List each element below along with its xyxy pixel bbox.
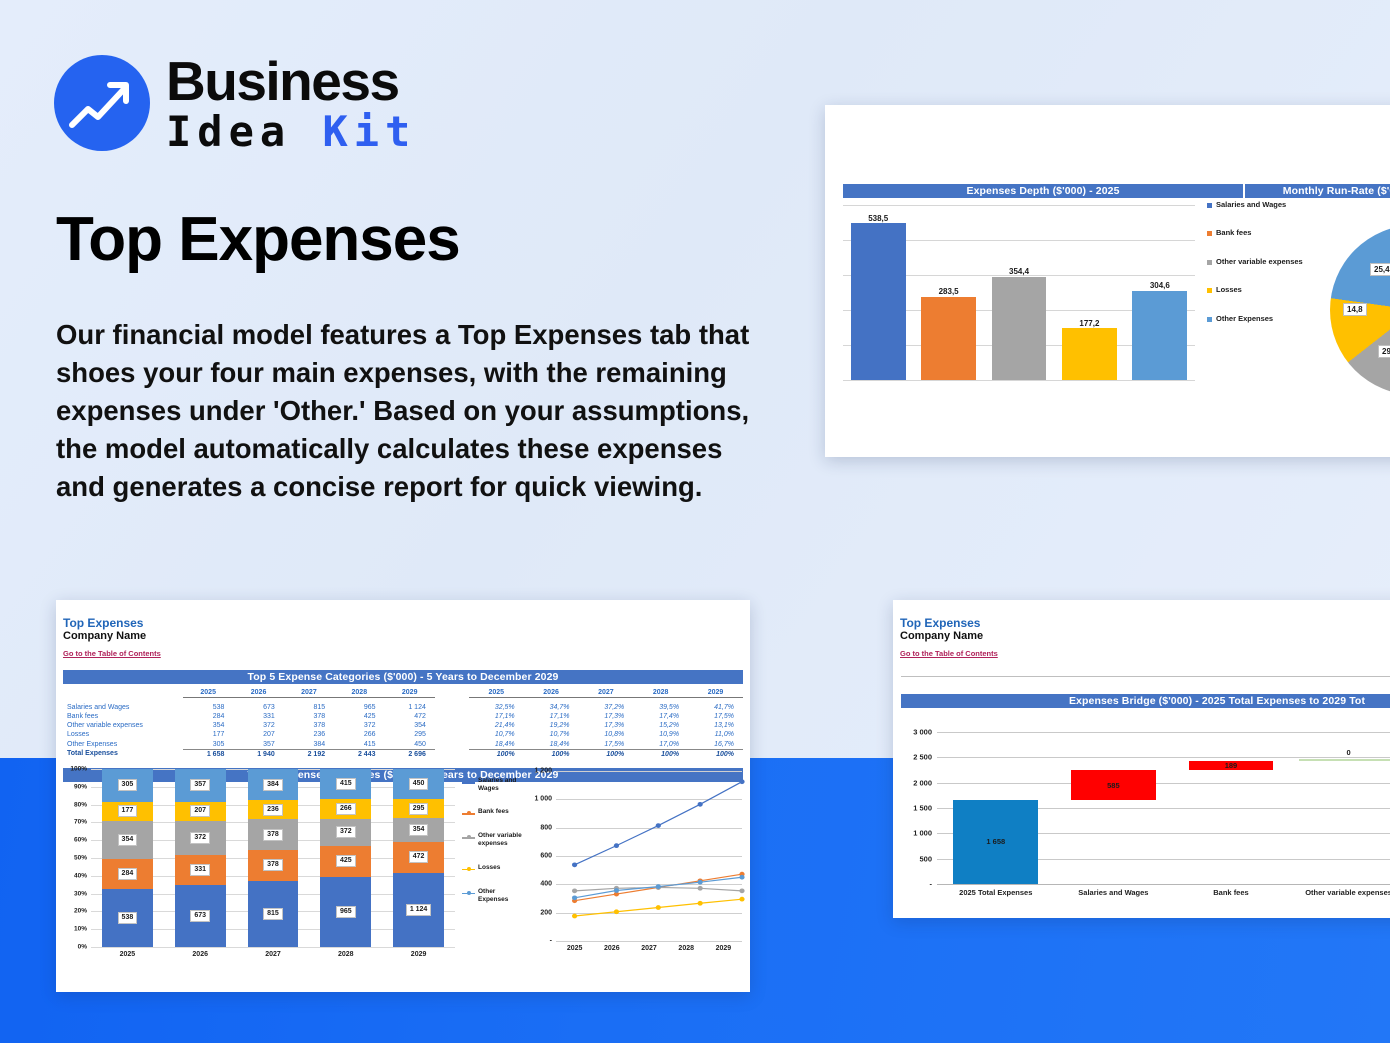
segment-label: 815	[263, 908, 283, 920]
cell: 372	[233, 721, 283, 730]
cell: 17,1%	[524, 712, 579, 721]
x-tick: 2028	[668, 945, 705, 952]
segment-label: 236	[263, 804, 283, 816]
bar-value-label: 283,5	[939, 287, 959, 296]
legend-label: Bank fees	[478, 808, 509, 816]
waterfall-y-axis: 3 000 2 500 2 000 1 500 1 000 500 -	[901, 732, 935, 884]
cell: 13,1%	[688, 721, 743, 730]
x-tick: 2029	[705, 945, 742, 952]
cell: 384	[284, 740, 334, 750]
sheet-company-name: Company Name	[63, 630, 750, 643]
screenshot-panel-top5-categories: Top Expenses Company Name Go to the Tabl…	[56, 600, 750, 992]
bar-series: 538,5 283,5 354,4 177,2 304,6	[843, 205, 1195, 380]
cell: 538	[183, 703, 233, 712]
body-paragraph: Our financial model features a Top Expen…	[56, 316, 756, 506]
cell: 357	[233, 740, 283, 750]
legend-swatch-icon	[1207, 288, 1212, 293]
legend-item: Bank fees	[462, 808, 524, 817]
x-tick: 2026	[593, 945, 630, 952]
waterfall-column: 189	[1172, 732, 1290, 884]
bar-value-label: 189	[1225, 761, 1238, 770]
cell: 11,0%	[688, 730, 743, 739]
bar-value-label: 354,4	[1009, 267, 1029, 276]
waterfall-bar-zero: 0	[1299, 759, 1390, 761]
brand-name-line1: Business	[166, 54, 416, 109]
stack-column: 415 266 372 425 965	[309, 769, 382, 947]
cell: 372	[334, 721, 384, 730]
legend-swatch-icon	[1207, 203, 1212, 208]
legend-item: Salaries and Wages	[1207, 200, 1312, 209]
pie-value-label: 14,8	[1343, 303, 1367, 316]
waterfall-chart: 3 000 2 500 2 000 1 500 1 000 500 - 1 65…	[901, 728, 1390, 908]
bar-item: 354,4	[984, 205, 1054, 380]
pct-col-header-2028: 2028	[633, 688, 688, 698]
bar-chart-expenses-depth: 538,5 283,5 354,4 177,2 304,6	[843, 205, 1195, 380]
legend-item: Bank fees	[1207, 228, 1312, 237]
table-total-row: Total Expenses 1 658 1 940 2 192 2 443 2…	[63, 749, 743, 759]
y-tick: 800	[540, 824, 552, 831]
cell: 236	[284, 730, 334, 739]
brand-name-line2-dark: Idea	[166, 107, 291, 156]
legend-item: Losses	[1207, 285, 1312, 294]
cell: 284	[183, 712, 233, 721]
y-tick: -	[930, 880, 933, 889]
cell: 10,9%	[633, 730, 688, 739]
cell: 17,0%	[633, 740, 688, 750]
legend-label: Salaries and Wages	[1216, 200, 1286, 209]
cell: 100%	[469, 749, 524, 759]
x-tick: 2028	[309, 951, 382, 958]
page-title: Top Expenses	[56, 204, 460, 275]
y-tick: 2 000	[913, 778, 932, 787]
cell: 41,7%	[688, 703, 743, 712]
cell: 378	[284, 721, 334, 730]
waterfall-plot-area: 1 658 585 189	[937, 732, 1390, 884]
cell: 17,5%	[578, 740, 633, 750]
stack-column: 357 207 372 331 673	[164, 769, 237, 947]
segment-label: 378	[263, 829, 283, 841]
stacked-plot-area: 305 177 354 284 538 357 207 372 331 673	[91, 769, 455, 947]
brand-name-line2-accent: Kit	[322, 107, 416, 156]
y-tick: -	[550, 938, 552, 945]
bar-value-label: 0	[1346, 748, 1350, 757]
segment-label: 305	[118, 779, 138, 791]
chart-title-monthly-run-rate: Monthly Run-Rate ($'000	[1245, 184, 1390, 198]
col-header-2029: 2029	[385, 688, 435, 698]
cell: 37,2%	[578, 703, 633, 712]
waterfall-chart-title-bar: Expenses Bridge ($'000) - 2025 Total Exp…	[901, 694, 1390, 708]
y-tick: 20%	[74, 908, 87, 915]
legend-item: Other variable expenses	[462, 832, 524, 848]
line-x-axis: 2025 2026 2027 2028 2029	[556, 945, 742, 952]
bar-value-label: 538,5	[868, 214, 888, 223]
table-row: Bank fees 284 331 378 425 472 17,1% 17,1…	[63, 712, 743, 721]
cell: 100%	[633, 749, 688, 759]
cell: 10,7%	[469, 730, 524, 739]
cell: 2 696	[385, 749, 435, 759]
legend-label: Salaries and Wages	[478, 777, 524, 793]
legend-line-marker-icon	[462, 866, 475, 873]
chart-title-expenses-depth: Expenses Depth ($'000) - 2025	[843, 184, 1243, 198]
y-tick: 3 000	[913, 728, 932, 737]
col-header-2026: 2026	[233, 688, 283, 698]
legend-line-marker-icon	[462, 810, 475, 817]
table-header-row: 2025 2026 2027 2028 2029 2025 2026 2027 …	[63, 688, 743, 698]
toc-link[interactable]: Go to the Table of Contents	[63, 648, 161, 659]
segment-label: 295	[409, 803, 429, 815]
cell: 815	[284, 703, 334, 712]
x-tick: 2025	[556, 945, 593, 952]
legend-line-marker-icon	[462, 779, 475, 786]
segment-label: 673	[190, 910, 210, 922]
y-tick: 80%	[74, 801, 87, 808]
segment-label: 384	[263, 779, 283, 791]
chart-legend-expenses-depth: Salaries and Wages Bank fees Other varia…	[1207, 200, 1312, 342]
y-tick: 1 000	[534, 796, 552, 803]
pct-col-header-2027: 2027	[578, 688, 633, 698]
x-tick: 2026	[164, 951, 237, 958]
segment-label: 354	[118, 834, 138, 846]
segment-label: 177	[118, 805, 138, 817]
cell: 331	[233, 712, 283, 721]
bar-item: 538,5	[843, 205, 913, 380]
waterfall-bar-increase: 189	[1189, 761, 1274, 771]
cell: 295	[385, 730, 435, 739]
segment-label: 415	[336, 778, 356, 790]
cell: 1 940	[233, 749, 283, 759]
screenshot-panel-expenses-depth: Expenses Depth ($'000) - 2025 Monthly Ru…	[825, 105, 1390, 457]
y-tick: 1 500	[913, 804, 932, 813]
cell: 2 443	[334, 749, 384, 759]
legend-label: Losses	[1216, 285, 1242, 294]
sheet-header: Top Expenses Company Name Go to the Tabl…	[893, 600, 1390, 661]
cell: 965	[334, 703, 384, 712]
segment-label: 538	[118, 912, 138, 924]
cell: 354	[385, 721, 435, 730]
segment-label: 378	[263, 859, 283, 871]
table-title-bar: Top 5 Expense Categories ($'000) - 5 Yea…	[63, 670, 743, 684]
cell: 10,7%	[524, 730, 579, 739]
y-tick: 500	[919, 854, 932, 863]
row-label: Bank fees	[63, 712, 183, 721]
cell: 354	[183, 721, 233, 730]
y-tick: 100%	[70, 766, 87, 773]
sheet-title: Top Expenses	[63, 616, 750, 630]
cell: 17,4%	[633, 712, 688, 721]
legend-item: Other Expenses	[1207, 314, 1312, 323]
legend-item: Other Expenses	[462, 888, 524, 904]
x-tick: 2029	[382, 951, 455, 958]
stack-column: 384 236 378 378 815	[237, 769, 310, 947]
segment-label: 425	[336, 855, 356, 867]
segment-label: 331	[190, 864, 210, 876]
cell: 1 124	[385, 703, 435, 712]
slide-canvas: Business Idea Kit Top Expenses Our finan…	[0, 0, 1390, 1043]
y-tick: 1 200	[534, 768, 552, 775]
y-tick: 50%	[74, 855, 87, 862]
sheet-header: Top Expenses Company Name Go to the Tabl…	[56, 600, 750, 661]
y-tick: 10%	[74, 926, 87, 933]
col-header-2027: 2027	[284, 688, 334, 698]
col-header-2028: 2028	[334, 688, 384, 698]
cell: 18,4%	[524, 740, 579, 750]
stack-column: 305 177 354 284 538	[91, 769, 164, 947]
legend-item: Salaries and Wages	[462, 777, 524, 793]
y-tick: 600	[540, 853, 552, 860]
segment-label: 266	[336, 803, 356, 815]
cell: 17,3%	[578, 712, 633, 721]
row-label: Total Expenses	[63, 749, 183, 759]
line-chart-expense-trend: Salaries and Wages Bank fees Other varia…	[462, 763, 744, 977]
toc-link[interactable]: Go to the Table of Contents	[900, 648, 998, 659]
waterfall-column: 585	[1055, 732, 1173, 884]
cell: 177	[183, 730, 233, 739]
cell: 266	[334, 730, 384, 739]
y-tick: 90%	[74, 783, 87, 790]
stacked-bar-chart: 100% 90% 80% 70% 60% 50% 40% 30% 20% 10%…	[63, 763, 457, 977]
y-tick: 1 000	[913, 829, 932, 838]
sheet-title: Top Expenses	[900, 616, 1390, 630]
line-plot-area	[556, 771, 742, 941]
y-tick: 30%	[74, 890, 87, 897]
cell: 450	[385, 740, 435, 750]
y-tick: 40%	[74, 872, 87, 879]
brand-logo: Business Idea Kit	[54, 52, 416, 153]
screenshot-panel-expenses-bridge: Top Expenses Company Name Go to the Tabl…	[893, 600, 1390, 918]
cell: 305	[183, 740, 233, 750]
cell: 673	[233, 703, 283, 712]
segment-label: 472	[409, 851, 429, 863]
cell: 19,2%	[524, 721, 579, 730]
bar-item: 283,5	[913, 205, 983, 380]
y-tick: 2 500	[913, 753, 932, 762]
cell: 18,4%	[469, 740, 524, 750]
stacked-y-axis: 100% 90% 80% 70% 60% 50% 40% 30% 20% 10%…	[63, 769, 89, 947]
segment-label: 372	[336, 826, 356, 838]
cell: 207	[233, 730, 283, 739]
bar-value-label: 585	[1107, 781, 1120, 790]
waterfall-column: 0	[1290, 732, 1390, 884]
table-row: Other Expenses 305 357 384 415 450 18,4%…	[63, 740, 743, 750]
y-tick: 70%	[74, 819, 87, 826]
row-label: Salaries and Wages	[63, 703, 183, 712]
legend-item: Losses	[462, 864, 524, 873]
cell: 378	[284, 712, 334, 721]
y-tick: 200	[540, 909, 552, 916]
cell: 472	[385, 712, 435, 721]
x-tick: 2025 Total Expenses	[937, 888, 1055, 897]
chart-title-bar-top: Expenses Depth ($'000) - 2025 Monthly Ru…	[843, 184, 1390, 198]
legend-line-marker-icon	[462, 834, 475, 841]
cell: 15,2%	[633, 721, 688, 730]
x-tick: Other variable expenses	[1290, 888, 1390, 897]
logo-growth-arrow-icon	[54, 55, 150, 151]
line-chart-legend: Salaries and Wages Bank fees Other varia…	[462, 777, 524, 919]
segment-label: 965	[336, 906, 356, 918]
row-label: Other Expenses	[63, 740, 183, 750]
pct-col-header-2026: 2026	[524, 688, 579, 698]
cell: 39,5%	[633, 703, 688, 712]
cell: 10,8%	[578, 730, 633, 739]
pie-value-label: 29,5	[1378, 345, 1390, 358]
pie-value-label: 25,4	[1370, 263, 1390, 276]
x-tick: 2027	[237, 951, 310, 958]
legend-swatch-icon	[1207, 231, 1212, 236]
legend-item: Other variable expenses	[1207, 257, 1312, 266]
cell: 100%	[578, 749, 633, 759]
x-tick: Salaries and Wages	[1055, 888, 1173, 897]
segment-label: 357	[190, 779, 210, 791]
col-header-2025: 2025	[183, 688, 233, 698]
cell: 1 658	[183, 749, 233, 759]
row-label: Losses	[63, 730, 183, 739]
segment-label: 450	[409, 778, 429, 790]
legend-swatch-icon	[1207, 317, 1212, 322]
waterfall-axis-line	[937, 884, 1390, 885]
y-tick: 400	[540, 881, 552, 888]
cell: 2 192	[284, 749, 334, 759]
table-row: Other variable expenses 354 372 378 372 …	[63, 721, 743, 730]
bar-value-label: 177,2	[1079, 319, 1099, 328]
table-row: Salaries and Wages 538 673 815 965 1 124…	[63, 703, 743, 712]
expense-table: 2025 2026 2027 2028 2029 2025 2026 2027 …	[63, 688, 743, 759]
cell: 100%	[524, 749, 579, 759]
x-tick: Bank fees	[1172, 888, 1290, 897]
bar-item: 177,2	[1054, 205, 1124, 380]
table-row: Losses 177 207 236 266 295 10,7% 10,7% 1…	[63, 730, 743, 739]
pct-col-header-2025: 2025	[469, 688, 524, 698]
divider	[901, 676, 1390, 677]
legend-label: Bank fees	[1216, 228, 1251, 237]
segment-label: 372	[190, 832, 210, 844]
x-tick: 2025	[91, 951, 164, 958]
legend-label: Other Expenses	[1216, 314, 1273, 323]
segment-label: 354	[409, 824, 429, 836]
cell: 17,1%	[469, 712, 524, 721]
pct-col-header-2029: 2029	[688, 688, 743, 698]
legend-label: Other Expenses	[478, 888, 524, 904]
sheet-company-name: Company Name	[900, 630, 1390, 643]
bar-item: 304,6	[1125, 205, 1195, 380]
cell: 17,3%	[578, 721, 633, 730]
legend-label: Other variable expenses	[478, 832, 524, 848]
bar-value-label: 1 658	[986, 837, 1005, 846]
segment-label: 1 124	[406, 904, 432, 916]
stack-column: 450 295 354 472 1 124	[382, 769, 455, 947]
waterfall-bar-increase: 585	[1071, 770, 1156, 800]
legend-label: Other variable expenses	[1216, 257, 1303, 266]
cell: 100%	[688, 749, 743, 759]
bar-value-label: 304,6	[1150, 281, 1170, 290]
segment-label: 207	[190, 805, 210, 817]
pie-chart-monthly-run-rate: 25,4 14,8 29,5	[1330, 225, 1390, 395]
cell: 34,7%	[524, 703, 579, 712]
waterfall-column: 1 658	[937, 732, 1055, 884]
legend-label: Losses	[478, 864, 500, 872]
line-y-axis: 1 200 1 000 800 600 400 200 -	[524, 771, 554, 941]
y-tick: 0%	[78, 944, 87, 951]
cell: 16,7%	[688, 740, 743, 750]
cell: 415	[334, 740, 384, 750]
cell: 17,5%	[688, 712, 743, 721]
y-tick: 60%	[74, 837, 87, 844]
legend-swatch-icon	[1207, 260, 1212, 265]
waterfall-x-axis: 2025 Total Expenses Salaries and Wages B…	[937, 888, 1390, 897]
row-label: Other variable expenses	[63, 721, 183, 730]
legend-line-marker-icon	[462, 890, 475, 897]
waterfall-bar-total: 1 658	[953, 800, 1038, 884]
segment-label: 284	[118, 868, 138, 880]
cell: 32,5%	[469, 703, 524, 712]
cell: 425	[334, 712, 384, 721]
cell: 21,4%	[469, 721, 524, 730]
x-tick: 2027	[630, 945, 667, 952]
stacked-x-axis: 2025 2026 2027 2028 2029	[91, 951, 455, 958]
